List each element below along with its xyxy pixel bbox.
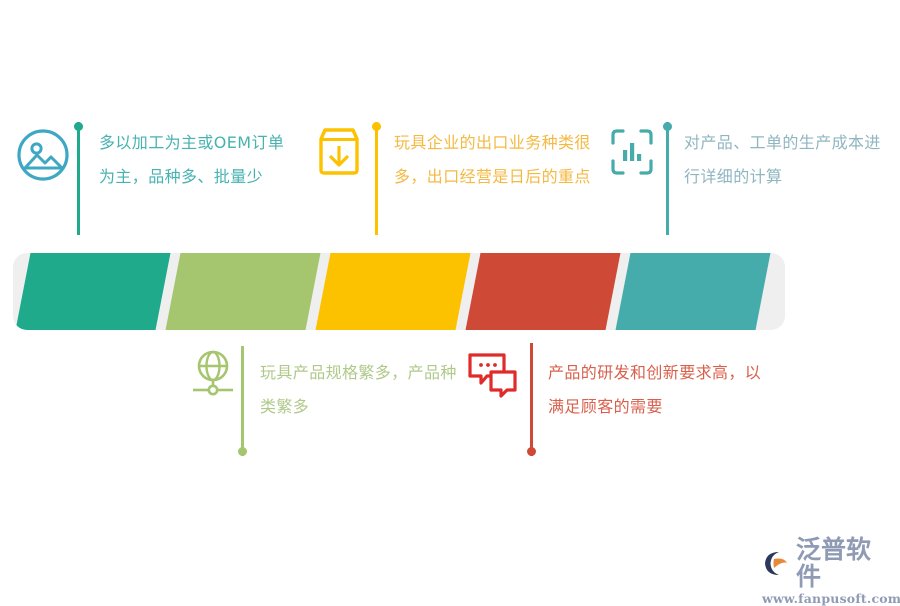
ribbon-segment-4 [465,253,622,330]
connector-pin-5 [527,343,536,456]
logo-row: 泛普软件 [762,536,894,590]
package-download-icon [315,126,363,183]
infographic-canvas: 多以加工为主或OEM订单为主，品种多、批量少 玩具企业的出口业务种类很多，出口经… [0,0,900,600]
item-product-variety-text: 玩具产品规格繁多，产品种类繁多 [260,356,460,424]
item-export-business-text: 玩具企业的出口业务种类很多，出口经营是日后的重点 [394,126,594,194]
connector-pin-1 [74,122,83,235]
logo-name: 泛普软件 [796,536,894,590]
ribbon-segment-1 [15,253,172,330]
item-cost-calculation-text: 对产品、工单的生产成本进行详细的计算 [684,126,889,194]
brand-logo: 泛普软件 www.fanpusoft.com [762,536,894,588]
process-ribbon [13,253,785,330]
fanpu-mark-icon [762,550,792,577]
connector-pin-2 [372,122,381,235]
connector-pin-3 [663,122,672,235]
item-processing-oem-text: 多以加工为主或OEM订单为主，品种多、批量少 [99,126,299,194]
item-rnd-innovation-text: 产品的研发和创新要求高，以满足顾客的需要 [548,356,763,424]
ribbon-segment-2 [165,253,322,330]
bar-chart-icon [610,128,654,181]
globe-network-icon [190,349,236,402]
image-picture-icon [15,127,71,188]
chat-bubbles-icon [467,350,519,403]
ribbon-segment-3 [315,253,472,330]
ribbon-segment-5 [615,253,772,330]
connector-pin-4 [238,346,247,456]
logo-url: www.fanpusoft.com [762,591,894,606]
